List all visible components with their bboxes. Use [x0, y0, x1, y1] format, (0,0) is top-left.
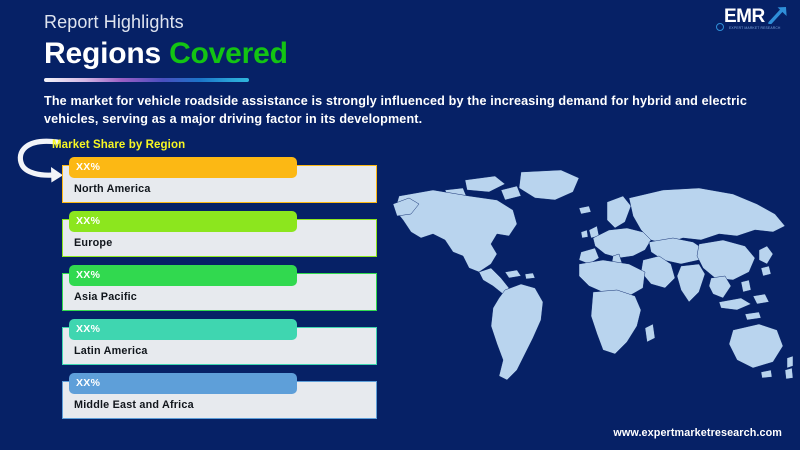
region-row: XX%North America	[62, 157, 378, 203]
region-name-label: Latin America	[74, 345, 148, 357]
footer-website-url[interactable]: www.expertmarketresearch.com	[613, 427, 782, 439]
region-share-value: XX%	[76, 215, 100, 227]
logo-circle-icon	[716, 23, 724, 31]
intro-paragraph: The market for vehicle roadside assistan…	[44, 92, 766, 128]
page-title-accent: Covered	[169, 37, 288, 70]
eyebrow-text: Report Highlights	[44, 10, 564, 34]
emr-logo[interactable]: EMR EXPERT MARKET RESEARCH	[716, 6, 788, 38]
region-name-label: Middle East and Africa	[74, 399, 194, 411]
region-name-label: North America	[74, 183, 151, 195]
region-name-label: Europe	[74, 237, 112, 249]
region-row: XX%Europe	[62, 211, 378, 257]
header: Report Highlights Regions Covered	[44, 10, 564, 82]
region-share-value: XX%	[76, 161, 100, 173]
page-title: Regions Covered	[44, 36, 564, 72]
market-share-bar-chart: XX%North AmericaXX%EuropeXX%Asia Pacific…	[62, 157, 378, 427]
region-row: XX%Latin America	[62, 319, 378, 365]
region-share-bar	[69, 319, 297, 340]
page-title-primary: Regions	[44, 37, 161, 70]
region-row: XX%Middle East and Africa	[62, 373, 378, 419]
region-name-label: Asia Pacific	[74, 291, 137, 303]
logo-wordmark: EMR	[724, 7, 765, 26]
region-share-value: XX%	[76, 377, 100, 389]
title-underline-rule	[44, 78, 249, 82]
growth-arrow-icon	[768, 6, 788, 24]
region-share-bar	[69, 265, 297, 286]
logo-tagline: EXPERT MARKET RESEARCH	[729, 26, 781, 31]
region-share-value: XX%	[76, 269, 100, 281]
region-share-bar	[69, 211, 297, 232]
report-highlights-slide: Report Highlights Regions Covered EMR EX…	[0, 0, 800, 450]
region-share-bar	[69, 373, 297, 394]
region-share-value: XX%	[76, 323, 100, 335]
region-share-bar	[69, 157, 297, 178]
region-row: XX%Asia Pacific	[62, 265, 378, 311]
world-map	[393, 168, 793, 408]
section-label: Market Share by Region	[52, 139, 185, 151]
